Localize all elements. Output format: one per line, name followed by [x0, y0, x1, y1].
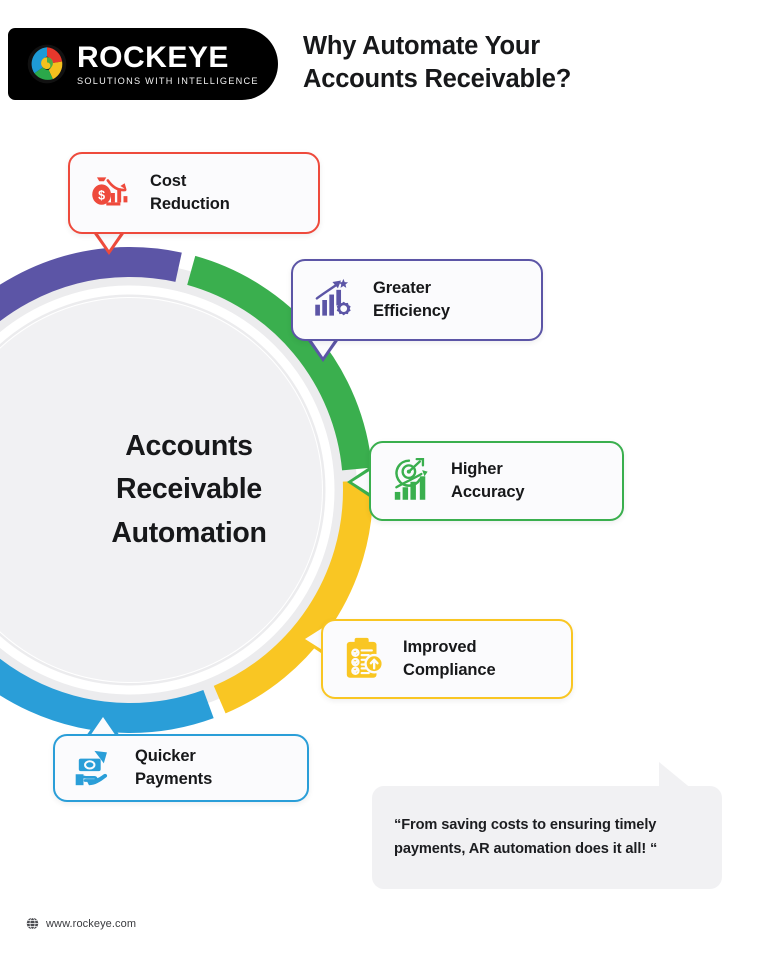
globe-icon [26, 917, 39, 930]
clipboard-checklist-up-arrow-icon [339, 634, 389, 684]
donut-center-label: Accounts Receivable Automation [0, 425, 267, 555]
callout-tail-greater-efficiency [306, 338, 340, 362]
infographic-page: ROCKEYE SOLUTIONS WITH INTELLIGENCE Why … [0, 0, 768, 961]
brand-logo-text: ROCKEYE SOLUTIONS WITH INTELLIGENCE [77, 43, 259, 86]
callout-label-higher-accuracy: Higher Accuracy [451, 458, 525, 505]
brand-logo[interactable]: ROCKEYE SOLUTIONS WITH INTELLIGENCE [8, 28, 278, 100]
callout-card-cost-reduction[interactable]: $ Cost Reduction [68, 152, 320, 234]
callout-card-quicker-payments[interactable]: Quicker Payments [53, 734, 309, 802]
callout-card-greater-efficiency[interactable]: Greater Efficiency [291, 259, 543, 341]
hand-money-exchange-icon [71, 743, 121, 793]
quote-box: “From saving costs to ensuring timely pa… [372, 786, 722, 889]
footer-url[interactable]: www.rockeye.com [46, 918, 136, 930]
quote-text: “From saving costs to ensuring timely pa… [394, 814, 700, 861]
page-title: Why Automate Your Accounts Receivable? [303, 30, 733, 95]
callout-tail-higher-accuracy [347, 466, 371, 498]
callout-card-higher-accuracy[interactable]: Higher Accuracy [369, 441, 624, 521]
callout-label-quicker-payments: Quicker Payments [135, 745, 212, 792]
svg-text:$: $ [98, 188, 105, 202]
brand-name: ROCKEYE [77, 43, 259, 73]
brand-tagline: SOLUTIONS WITH INTELLIGENCE [77, 76, 259, 86]
footer: www.rockeye.com [26, 917, 136, 930]
callout-tail-quicker-payments [86, 712, 120, 736]
callout-tail-cost-reduction [92, 231, 126, 255]
callout-label-greater-efficiency: Greater Efficiency [373, 277, 450, 324]
growth-chart-gear-star-icon [309, 275, 359, 325]
callout-label-improved-compliance: Improved Compliance [403, 636, 496, 683]
target-arrow-bar-chart-icon [387, 456, 437, 506]
callout-label-cost-reduction: Cost Reduction [150, 170, 230, 217]
rockeye-swirl-icon [26, 43, 68, 85]
money-bag-down-arrow-bar-chart-icon: $ [86, 168, 136, 218]
callout-card-improved-compliance[interactable]: Improved Compliance [321, 619, 573, 699]
